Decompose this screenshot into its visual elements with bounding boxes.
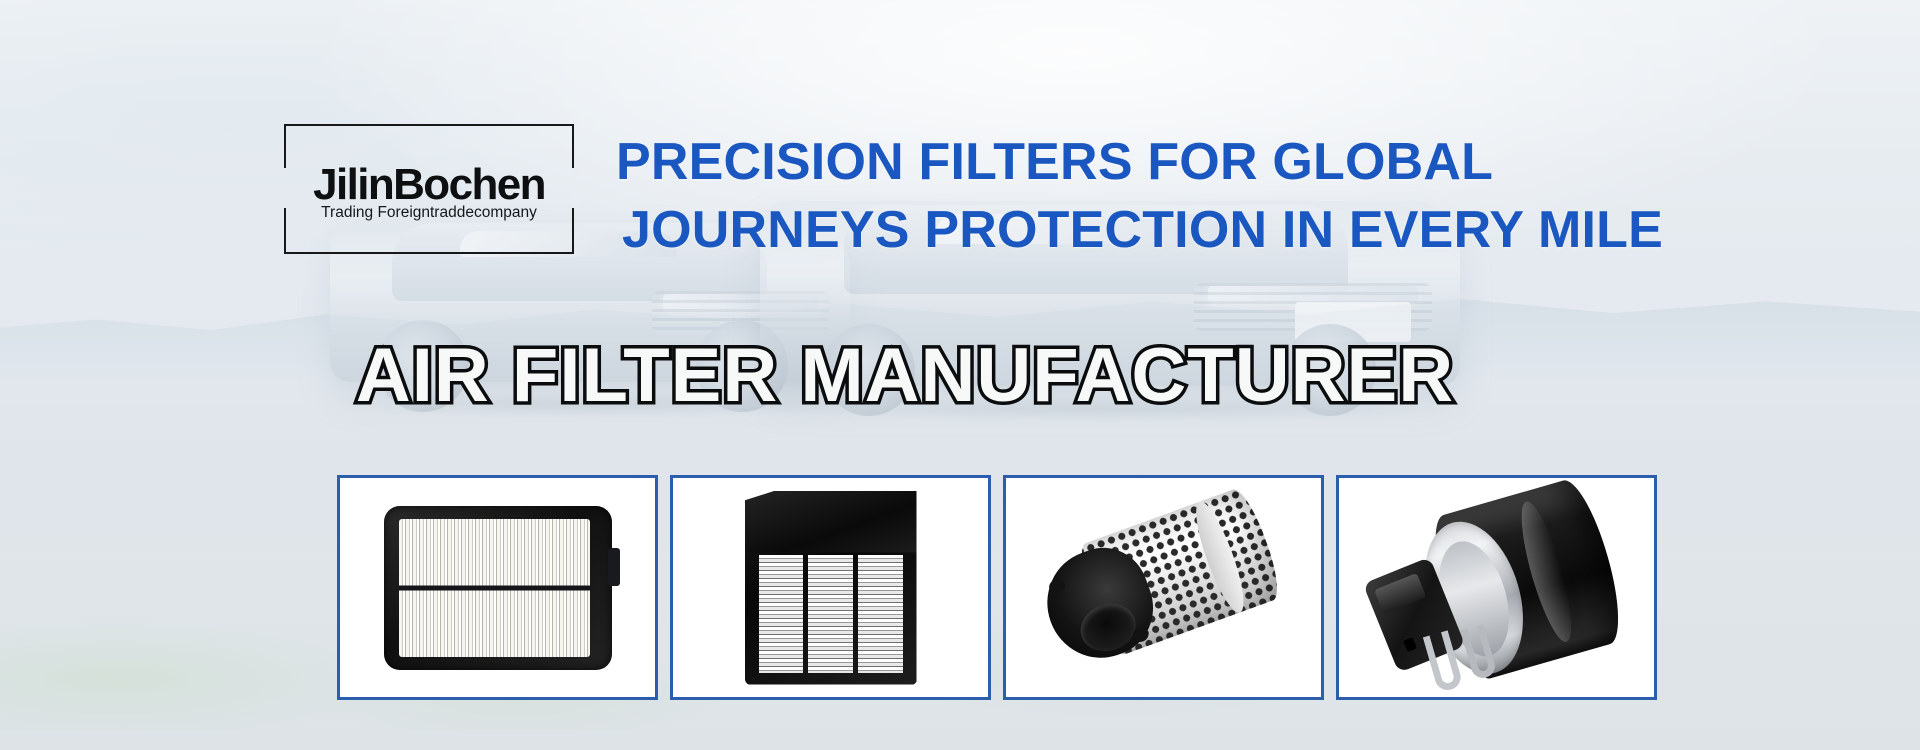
headline-block: PRECISION FILTERS FOR GLOBAL JOURNEYS PR… bbox=[598, 128, 1758, 264]
product-image-cylindrical-mesh-cartridge-filter bbox=[1006, 478, 1321, 697]
filter-pleated-media bbox=[759, 555, 903, 673]
product-image-rectangular-panel-air-filter bbox=[340, 478, 655, 697]
product-card-cylindrical-mesh-cartridge-filter[interactable] bbox=[1003, 475, 1324, 700]
pleat-column bbox=[759, 555, 804, 673]
brand-name: JilinBochen bbox=[313, 160, 545, 210]
main-title-block: AIR FILTER MANUFACTURER bbox=[0, 332, 1920, 419]
filter-center-rib bbox=[399, 585, 590, 590]
hero-banner: JilinBochen Trading Foreigntraddecompany… bbox=[0, 0, 1920, 750]
brand-logo: JilinBochen Trading Foreigntraddecompany bbox=[284, 124, 574, 254]
product-card-row bbox=[337, 475, 1657, 700]
connector-face bbox=[1374, 572, 1426, 613]
cartridge-nub bbox=[1047, 577, 1067, 596]
cylindrical-cartridge-graphic bbox=[1018, 475, 1309, 700]
connector-port bbox=[1403, 637, 1417, 652]
product-image-angled-panel-air-filter bbox=[673, 478, 988, 697]
product-card-canister-fuel-filter[interactable] bbox=[1336, 475, 1657, 700]
logo-frame-gap-right bbox=[572, 168, 577, 208]
pleat-column bbox=[808, 555, 853, 673]
headline-line-2: JOURNEYS PROTECTION IN EVERY MILE bbox=[598, 196, 1758, 264]
brand-tagline: Trading Foreigntraddecompany bbox=[321, 204, 537, 222]
pleat-column bbox=[858, 555, 903, 673]
product-image-canister-fuel-filter bbox=[1339, 478, 1654, 697]
filter-side-tab bbox=[608, 548, 620, 586]
logo-frame-gap-left bbox=[281, 168, 286, 208]
rectangular-panel-filter-graphic bbox=[384, 506, 612, 670]
headline-line-1: PRECISION FILTERS FOR GLOBAL bbox=[598, 128, 1758, 196]
canister-fuel-filter-graphic bbox=[1354, 475, 1640, 700]
filter-top-face bbox=[745, 491, 917, 553]
product-card-rectangular-panel-air-filter[interactable] bbox=[337, 475, 658, 700]
product-card-angled-panel-air-filter[interactable] bbox=[670, 475, 991, 700]
angled-panel-filter-graphic bbox=[745, 491, 917, 685]
main-title: AIR FILTER MANUFACTURER bbox=[356, 332, 1454, 419]
